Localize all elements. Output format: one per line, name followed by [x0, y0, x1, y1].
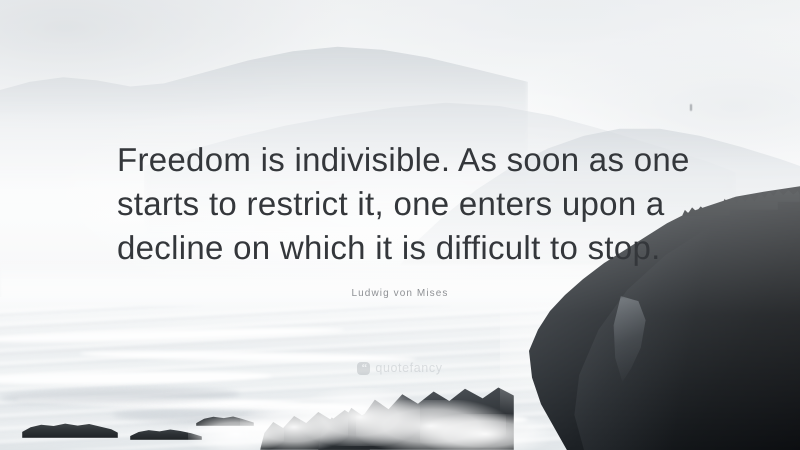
watermark-brand-label: quotefancy — [375, 361, 442, 375]
quote-poster: Freedom is indivisible. As soon as one s… — [0, 0, 800, 450]
text-layer: Freedom is indivisible. As soon as one s… — [0, 0, 800, 450]
quote-mark-badge-icon: “ — [357, 362, 370, 375]
watermark[interactable]: “ quotefancy — [0, 361, 800, 375]
quote-author: Ludwig von Mises — [0, 288, 800, 299]
quote-text: Freedom is indivisible. As soon as one s… — [117, 138, 707, 270]
